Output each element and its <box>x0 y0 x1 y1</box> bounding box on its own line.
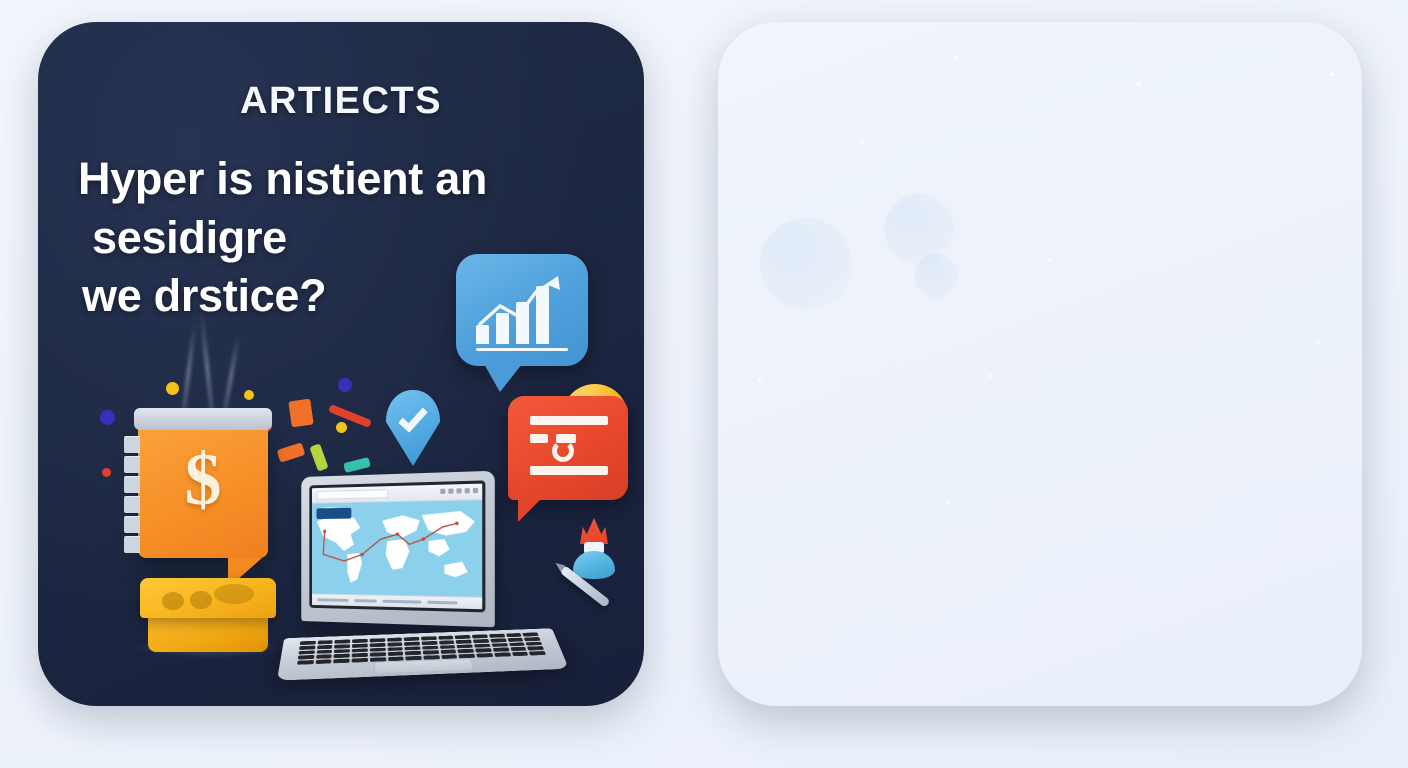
confetti-chip <box>343 457 371 473</box>
sparkle <box>1330 72 1335 77</box>
gold-bars-icon <box>134 578 282 656</box>
artiects-promo-card: ARTIECTS Hyper is nistient an sesidigre … <box>38 22 644 706</box>
card-eyebrow: ARTIECTS <box>38 80 644 123</box>
illustration-stage: ARTIECTS Hyper is nistient an sesidigre … <box>0 0 1408 768</box>
message-circle-glyph <box>552 440 574 462</box>
confetti-dot <box>244 390 254 400</box>
mini-bar-chart <box>476 282 568 344</box>
world-map <box>312 500 482 597</box>
confetti-dot <box>336 422 347 433</box>
confetti-chip <box>288 399 313 428</box>
location-pin-check-icon <box>386 390 440 466</box>
sparkle <box>946 500 950 504</box>
confetti-chip <box>328 404 372 428</box>
money-note-bubble-icon: $ <box>138 422 268 558</box>
pawn-marker-icon <box>572 518 616 580</box>
laptop-trackpad[interactable] <box>375 659 474 675</box>
map-label-badge <box>317 507 352 518</box>
browser-tool-icons[interactable] <box>440 488 478 494</box>
clip-top <box>134 408 272 430</box>
sparkle <box>1048 258 1052 262</box>
confetti-dot <box>166 382 179 395</box>
glow-blob <box>760 218 852 310</box>
sparkle <box>954 56 958 60</box>
message-bubble-icon <box>508 396 628 500</box>
sparkle <box>758 378 762 382</box>
confetti-dot <box>100 410 115 425</box>
analytics-illustration-card <box>718 22 1362 706</box>
confetti-chip <box>309 443 328 471</box>
sparkle <box>1136 82 1141 87</box>
mini-trend-arrow-icon <box>476 276 568 338</box>
browser-tab[interactable] <box>317 489 389 500</box>
laptop-screen <box>309 480 485 612</box>
chart-bubble-icon <box>456 254 588 366</box>
glow-blob <box>884 194 954 264</box>
headline-line-1: Hyper is nistient an <box>78 150 608 209</box>
glow-blob <box>914 254 958 298</box>
confetti-chip <box>277 442 306 462</box>
sparkle <box>988 374 992 378</box>
confetti-dot <box>338 378 352 392</box>
browser-statusbar <box>312 593 482 609</box>
sparkle <box>1316 340 1320 344</box>
confetti-dot <box>102 468 111 477</box>
money-symbol: $ <box>138 438 268 523</box>
sparkle <box>860 140 864 144</box>
